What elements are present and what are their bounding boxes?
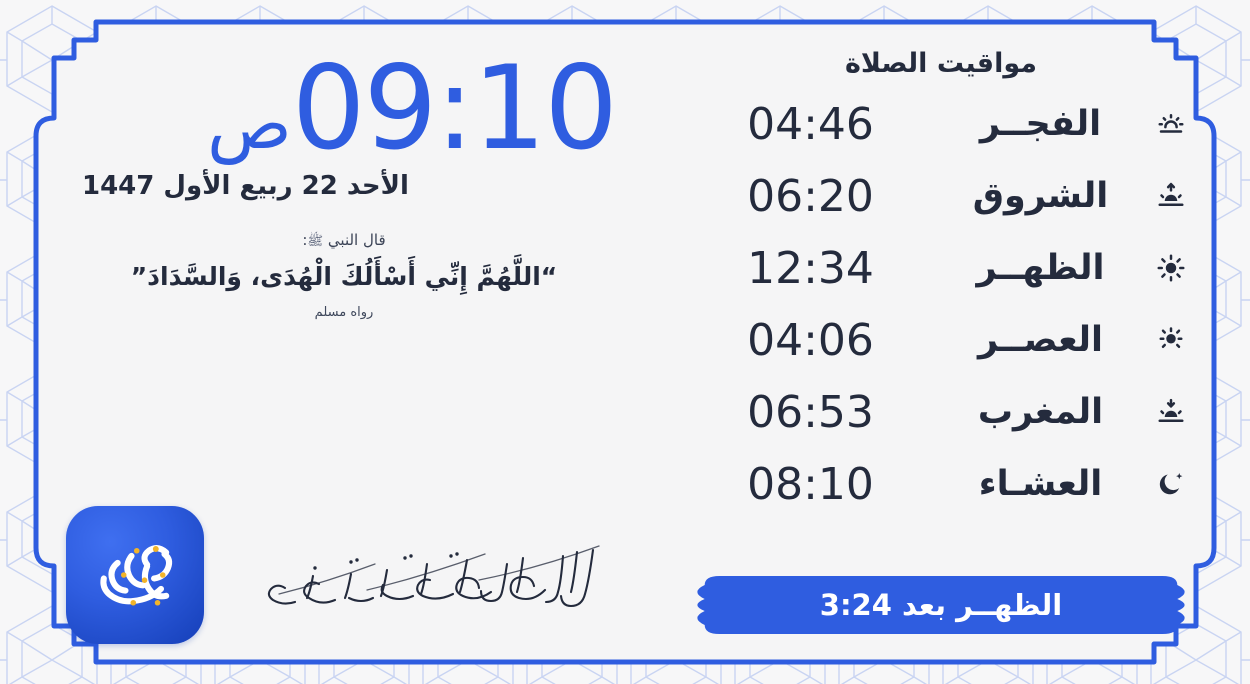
hadith-source: رواه مسلم [72, 305, 616, 320]
sun-low-icon [1148, 325, 1194, 355]
sun-high-icon [1148, 253, 1194, 283]
prayer-name-fajr: الفجــر [933, 104, 1148, 144]
countdown-label: الظهــر بعد 3:24 [820, 588, 1062, 622]
next-prayer-countdown-badge[interactable]: الظهــر بعد 3:24 [690, 572, 1192, 638]
prayer-row-dhuhr[interactable]: الظهــر 12:34 [684, 233, 1198, 303]
current-time: 09:10 [292, 56, 616, 163]
prayer-time-shuruq: 06:20 [688, 171, 933, 222]
prayer-name-shuruq: الشروق [933, 176, 1148, 216]
time-meridiem: ص [207, 92, 292, 156]
prayer-row-shuruq[interactable]: الشروق 06:20 [684, 161, 1198, 231]
hadith-intro-text: قال النبي [328, 231, 386, 249]
logo-calligraphy-icon [83, 523, 187, 627]
clock-block: 09:10 ص الأحد 22 ربيع الأول 1447 [62, 56, 616, 201]
prayer-time-maghrib: 06:53 [688, 387, 933, 438]
prayer-times-panel: مواقيت الصلاة الفجــر 04:46 [656, 22, 1214, 662]
diwani-calligraphy-icon [255, 534, 605, 616]
prayer-name-maghrib: المغرب [933, 392, 1148, 432]
app-logo[interactable] [66, 506, 204, 644]
sunset-icon [1148, 397, 1194, 427]
calligraphy-phrase [234, 534, 626, 616]
current-time-row: 09:10 ص [72, 56, 616, 163]
prayer-time-asr: 04:06 [688, 315, 933, 366]
prayer-time-fajr: 04:46 [688, 99, 933, 150]
moon-star-icon [1148, 469, 1194, 499]
sallallahu-alayhi-wasallam-icon: ﷺ [307, 234, 323, 249]
prayer-row-isha[interactable]: العشـاء 08:10 [684, 449, 1198, 519]
prayer-times-list: الفجــر 04:46 الشروق 06:20 [684, 89, 1198, 566]
clock-panel: 09:10 ص الأحد 22 ربيع الأول 1447 قال الن… [36, 22, 656, 662]
prayer-name-isha: العشـاء [933, 464, 1148, 504]
hadith-block: قال النبي ﷺ: “اللَّهُمَّ إِنِّي أَسْأَلُ… [62, 231, 616, 320]
fajr-dawn-icon [1148, 109, 1194, 139]
hadith-text: “اللَّهُمَّ إِنِّي أَسْأَلُكَ الْهُدَى، … [72, 259, 616, 295]
hadith-intro-line: قال النبي ﷺ: [72, 231, 616, 252]
prayer-row-maghrib[interactable]: المغرب 06:53 [684, 377, 1198, 447]
prayer-row-fajr[interactable]: الفجــر 04:46 [684, 89, 1198, 159]
prayer-times-card: مواقيت الصلاة الفجــر 04:46 [36, 22, 1214, 662]
prayer-time-dhuhr: 12:34 [688, 243, 933, 294]
prayer-row-asr[interactable]: العصــر 04:06 [684, 305, 1198, 375]
prayer-name-asr: العصــر [933, 320, 1148, 360]
prayer-name-dhuhr: الظهــر [933, 248, 1148, 288]
prayer-times-title: مواقيت الصلاة [684, 48, 1198, 79]
sunrise-icon [1148, 181, 1194, 211]
prayer-time-isha: 08:10 [688, 459, 933, 510]
branding-row [66, 506, 626, 644]
